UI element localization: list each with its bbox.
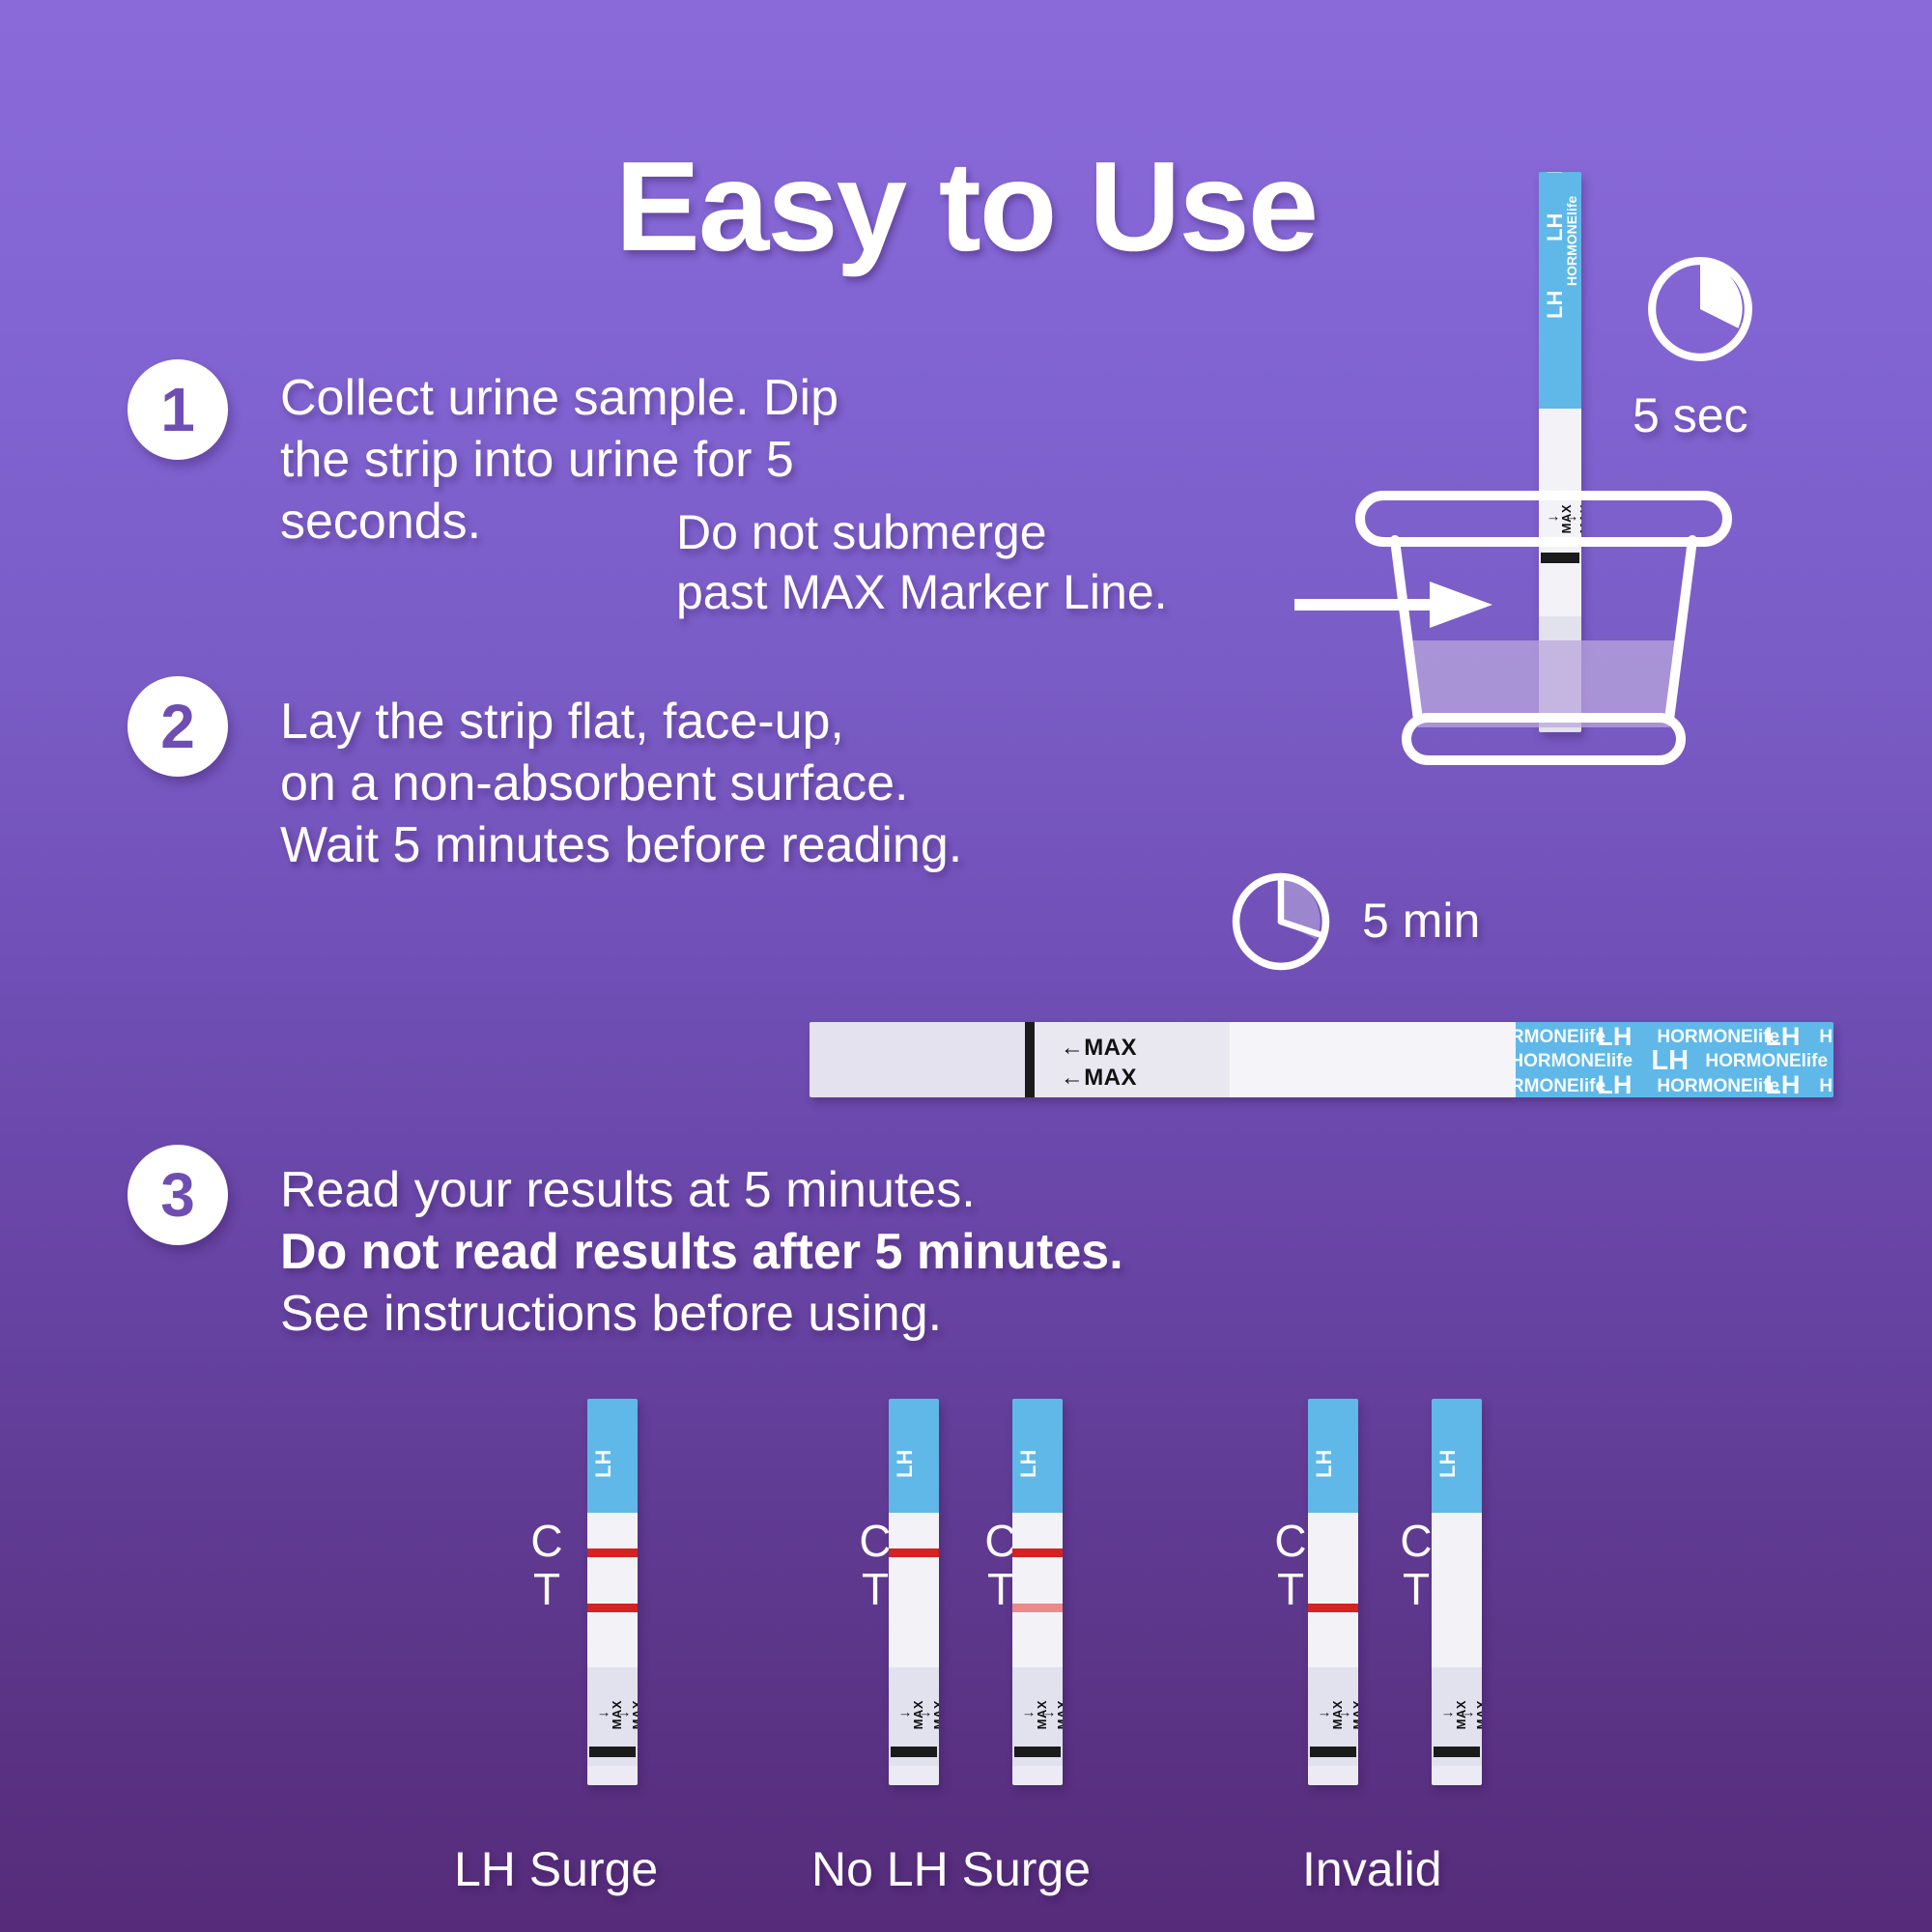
- max-label: MAX: [1351, 1700, 1358, 1729]
- strip-hormone-text: LH: [1765, 1070, 1800, 1097]
- clock-icon-5-min: [1229, 869, 1333, 974]
- max-arrow-icon: ←: [1061, 1035, 1085, 1061]
- max-marker-bar: [1434, 1747, 1480, 1757]
- strip-brand-text: HORMONElife: [1705, 1051, 1828, 1072]
- strip-hormone-text: LH: [1543, 291, 1568, 319]
- result-strip-invalid-a: LH HORMONElife LH HORMONElife ↓ MAX ↓ MA…: [1308, 1399, 1358, 1785]
- strip-foot-segment: [587, 1766, 638, 1785]
- result-strip-lh-surge: LH HORMONElife LH HORMONElife ↓ MAX ↓ MA…: [587, 1399, 638, 1785]
- strip-brand-text: HORMONElife: [1516, 1027, 1605, 1048]
- strip-handle-segment: HORMONElife LH HORMONElife LH HORMONElif…: [1539, 172, 1581, 409]
- strip-foot-segment: [1308, 1766, 1358, 1785]
- step-2-number: 2: [128, 676, 228, 777]
- step-1-line-1: Collect urine sample. Dip: [280, 367, 838, 429]
- strip-brand-text: HORMONElife: [1564, 196, 1579, 286]
- step-2-text: Lay the strip flat, face-up, on a non-ab…: [280, 691, 962, 876]
- max-marker-bar: [1310, 1747, 1356, 1757]
- step-3-line-3: See instructions before using.: [280, 1283, 1123, 1345]
- strip-foot-segment: [1432, 1766, 1482, 1785]
- max-arrow-icon: ↓: [1317, 1711, 1331, 1719]
- max-label: MAX: [631, 1700, 638, 1729]
- control-line: [1012, 1548, 1063, 1557]
- strip-handle-segment: LH HORMONElife LH HORMONElife: [1012, 1399, 1063, 1513]
- strip-handle-segment: LH HORMONElife LH HORMONElife: [889, 1399, 939, 1513]
- step-1-note-line-2: past MAX Marker Line.: [676, 562, 1168, 622]
- max-label: MAX: [1475, 1700, 1482, 1729]
- strip-pad-segment: [889, 1513, 939, 1667]
- control-label: C: [1267, 1517, 1314, 1565]
- max-arrow-icon: ↓: [1337, 1711, 1351, 1719]
- max-marker-right: ↓ MAX: [616, 1689, 638, 1741]
- control-line: [889, 1548, 939, 1557]
- max-arrow-icon: ↓: [1461, 1711, 1475, 1719]
- step-3-line-2: Do not read results after 5 minutes.: [280, 1221, 1123, 1283]
- strip-pad-segment: [1230, 1022, 1517, 1097]
- clock-icon-5-sec: [1644, 253, 1756, 365]
- max-marker-right: ↓ MAX: [1041, 1689, 1063, 1741]
- strip-foot-segment: [810, 1022, 1025, 1097]
- test-label: T: [1267, 1565, 1314, 1613]
- strip-handle-segment: LH HORMONElife LH HORMONElife: [587, 1399, 638, 1513]
- max-label: MAX: [1056, 1700, 1063, 1729]
- results-legend: C T LH HORMONElife LH HORMONElife ↓ MAX …: [0, 1399, 1932, 1804]
- result-strip-no-lh-surge-b: LH HORMONElife LH HORMONElife ↓ MAX ↓ MA…: [1012, 1399, 1063, 1785]
- strip-foot-segment: [1012, 1766, 1063, 1785]
- strip-hormone-text: LH: [1543, 172, 1568, 174]
- step-1-line-2: the strip into urine for 5: [280, 429, 838, 491]
- max-marker-bar: [1025, 1022, 1035, 1097]
- max-label: MAX: [1084, 1035, 1137, 1061]
- test-line-faint: [1012, 1604, 1063, 1612]
- timer-label-5-min: 5 min: [1362, 896, 1480, 945]
- test-line: [587, 1604, 638, 1612]
- max-marker-bar: [589, 1747, 636, 1757]
- step-2-line-3: Wait 5 minutes before reading.: [280, 814, 962, 876]
- strip-hormone-text: LH: [1016, 1450, 1041, 1478]
- strip-pad-segment: [587, 1513, 638, 1667]
- max-arrow-icon: ↓: [596, 1711, 611, 1719]
- max-marker-right: ↓ MAX: [918, 1689, 939, 1741]
- strip-handle-segment: LH HORMONElife LH HORMONElife: [1432, 1399, 1482, 1513]
- max-marker-bottom: ←MAX: [1061, 1065, 1137, 1092]
- result-label-invalid: Invalid: [1302, 1841, 1442, 1897]
- strip-brand-text: HORMONElife: [1657, 1076, 1779, 1097]
- max-line-pointer-arrow-icon: [1294, 578, 1497, 632]
- timer-label-5-sec: 5 sec: [1633, 391, 1748, 440]
- max-label: MAX: [932, 1700, 939, 1729]
- strip-hormone-text: LH: [893, 1450, 918, 1478]
- strip-hormone-text: LH: [1651, 1045, 1689, 1077]
- step-3-number: 3: [128, 1145, 228, 1245]
- max-arrow-icon: ↓: [1021, 1711, 1036, 1719]
- strip-pad-segment: [1308, 1513, 1358, 1667]
- strip-brand-text: HORMONElife: [1819, 1027, 1833, 1048]
- max-marker-right: ↓ MAX: [1461, 1689, 1482, 1741]
- max-marker-right: ↓ MAX: [1337, 1689, 1358, 1741]
- ct-label-group-2-strip-0: C T: [1267, 1517, 1314, 1613]
- strip-hormone-text: LH: [1597, 1022, 1632, 1052]
- max-arrow-icon: ↓: [897, 1711, 912, 1719]
- ct-label-group-0-strip-0: C T: [524, 1517, 570, 1613]
- max-arrow-icon: ↓: [616, 1711, 631, 1719]
- step-2-line-1: Lay the strip flat, face-up,: [280, 691, 962, 753]
- step-3-text: Read your results at 5 minutes. Do not r…: [280, 1159, 1123, 1345]
- strip-brand-text: HORMONElife: [1819, 1076, 1833, 1097]
- step-1-note: Do not submerge past MAX Marker Line.: [676, 502, 1168, 622]
- max-marker-bar: [891, 1747, 937, 1757]
- max-marker-top: ←MAX: [1061, 1035, 1137, 1062]
- strip-hormone-text: LH: [1597, 1070, 1632, 1097]
- test-line: [1308, 1604, 1358, 1612]
- test-strip-horizontal: HORMONElife LH HORMONElife LH HORMONElif…: [810, 1022, 1833, 1097]
- step-1-note-line-1: Do not submerge: [676, 502, 1168, 562]
- strip-hormone-text: LH: [1312, 1450, 1337, 1478]
- result-label-no-lh-surge: No LH Surge: [811, 1841, 1091, 1897]
- result-strip-no-lh-surge-a: LH HORMONElife LH HORMONElife ↓ MAX ↓ MA…: [889, 1399, 939, 1785]
- strip-handle-segment: HORMONElife LH HORMONElife LH HORMONElif…: [1516, 1022, 1833, 1097]
- strip-pad-segment: [1012, 1513, 1063, 1667]
- max-arrow-icon: ↓: [1440, 1711, 1455, 1719]
- max-arrow-icon: ↓: [1041, 1711, 1056, 1719]
- strip-brand-text: HORMONElife: [1516, 1076, 1605, 1097]
- control-label: C: [524, 1517, 570, 1565]
- control-line: [587, 1548, 638, 1557]
- max-marker-bar: [1014, 1747, 1061, 1757]
- strip-foot-segment: [889, 1766, 939, 1785]
- page-title: Easy to Use: [0, 143, 1932, 270]
- strip-pad-segment: [1432, 1513, 1482, 1667]
- test-label: T: [524, 1565, 570, 1613]
- result-strip-invalid-b: LH HORMONElife LH HORMONElife ↓ MAX ↓ MA…: [1432, 1399, 1482, 1785]
- step-2-line-2: on a non-absorbent surface.: [280, 753, 962, 814]
- step-1-number: 1: [128, 359, 228, 460]
- step-3-line-1: Read your results at 5 minutes.: [280, 1159, 1123, 1221]
- strip-hormone-text: LH: [1765, 1022, 1800, 1052]
- strip-hormone-text: LH: [591, 1450, 616, 1478]
- strip-hormone-text: LH: [1435, 1450, 1461, 1478]
- strip-brand-text: HORMONElife: [1516, 1051, 1633, 1072]
- max-label: MAX: [1084, 1065, 1137, 1091]
- strip-handle-segment: LH HORMONElife LH HORMONElife: [1308, 1399, 1358, 1513]
- result-label-lh-surge: LH Surge: [454, 1841, 658, 1897]
- max-arrow-icon: ↓: [918, 1711, 932, 1719]
- max-arrow-icon: ←: [1061, 1065, 1085, 1091]
